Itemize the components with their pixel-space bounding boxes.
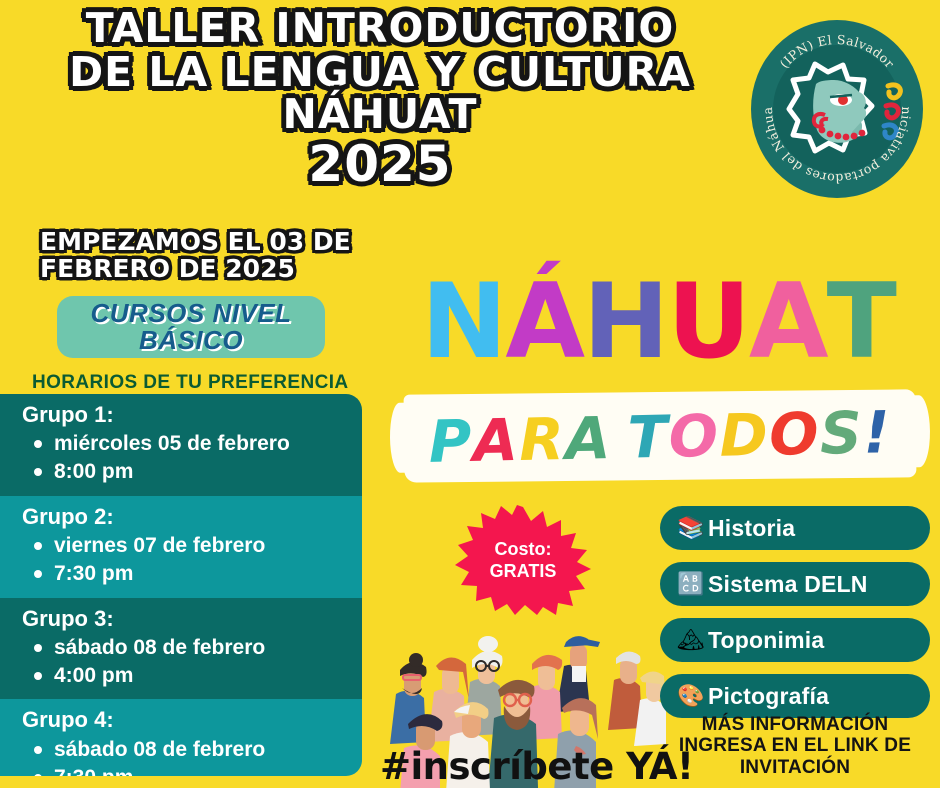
abc-blocks-icon: 🔠 — [674, 573, 708, 595]
subtitle-letter-9: O — [769, 405, 821, 464]
group-detail-item: 7:30 pm — [22, 560, 362, 588]
schedule-group-2: Grupo 2:viernes 07 de febrero7:30 pm — [0, 496, 362, 598]
topics-list: 📚Historia🔠Sistema DELN🏔Toponimia🎨Pictogr… — [660, 506, 930, 730]
more-info-line-2: INGRESA EN EL LINK DE — [650, 735, 940, 756]
group-detail-list: miércoles 05 de febrero8:00 pm — [22, 430, 362, 485]
hero-letter-5: A — [749, 274, 827, 372]
schedule-heading: HORARIOS DE TU PREFERENCIA — [32, 372, 349, 394]
level-line-2: BÁSICO — [139, 325, 243, 355]
poster-title: TALLER INTRODUCTORIO DE LA LENGUA Y CULT… — [0, 8, 760, 190]
hero-letter-4: U — [667, 274, 749, 372]
group-detail-item: 8:00 pm — [22, 458, 362, 486]
more-info-text: MÁS INFORMACIÓN INGRESA EN EL LINK DE IN… — [650, 714, 940, 778]
topic-pill-historia[interactable]: 📚Historia — [660, 506, 930, 550]
subtitle-letter-5 — [611, 409, 628, 467]
subtitle-letter-4: A — [565, 409, 613, 468]
level-line-1: CURSOS NIVEL — [90, 298, 291, 328]
group-detail-item: 4:00 pm — [22, 662, 362, 690]
subtitle-letter-8: D — [719, 406, 770, 465]
subtitle-letter-7: O — [668, 407, 720, 466]
schedule-group-3: Grupo 3:sábado 08 de febrero4:00 pm — [0, 598, 362, 700]
group-detail-item: 7:30 pm — [22, 764, 362, 776]
topic-pill-pictograf-a[interactable]: 🎨Pictografía — [660, 674, 930, 718]
topic-pill-toponimia[interactable]: 🏔Toponimia — [660, 618, 930, 662]
organization-logo: (IPN) El Salvador Iniciativa portadores … — [748, 20, 926, 198]
books-icon: 📚 — [674, 517, 708, 539]
title-year: 2025 — [0, 139, 760, 190]
start-date-text: EMPEZAMOS EL 03 DE FEBRERO DE 2025 — [40, 228, 370, 282]
group-detail-item: viernes 07 de febrero — [22, 532, 362, 560]
art-palette-icon: 🎨 — [674, 685, 708, 707]
subtitle-letter-2: A — [472, 411, 520, 470]
more-info-line-3: INVITACIÓN — [650, 757, 940, 778]
group-detail-list: viernes 07 de febrero7:30 pm — [22, 532, 362, 587]
schedule-groups-panel: Grupo 1:miércoles 05 de febrero8:00 pmGr… — [0, 394, 362, 776]
topic-label: Toponimia — [708, 627, 824, 654]
topic-pill-sistema-deln[interactable]: 🔠Sistema DELN — [660, 562, 930, 606]
hero-letter-1: N — [421, 274, 505, 372]
title-line-2: DE LA LENGUA Y CULTURA NÁHUAT — [0, 52, 760, 136]
course-level-badge: CURSOS NIVEL BÁSICO — [57, 296, 325, 358]
hero-letter-6: T — [827, 274, 895, 372]
subtitle-letter-3: R — [519, 410, 566, 469]
schedule-group-4: Grupo 4:sábado 08 de febrero7:30 pm — [0, 699, 362, 776]
topic-label: Sistema DELN — [708, 571, 868, 598]
group-title: Grupo 3: — [22, 606, 362, 632]
hero-letter-3: H — [583, 274, 667, 372]
cost-label: Costo: — [495, 538, 552, 561]
hero-subtitle-para-todos: PARA TODOS! — [403, 391, 917, 484]
schedule-group-1: Grupo 1:miércoles 05 de febrero8:00 pm — [0, 394, 362, 496]
group-title: Grupo 4: — [22, 707, 362, 733]
cost-value: GRATIS — [490, 560, 557, 583]
group-detail-list: sábado 08 de febrero7:30 pm — [22, 736, 362, 776]
group-title: Grupo 2: — [22, 504, 362, 530]
mountain-icon: 🏔 — [674, 629, 708, 651]
group-detail-item: sábado 08 de febrero — [22, 634, 362, 662]
topic-label: Pictografía — [708, 683, 829, 710]
group-detail-item: sábado 08 de febrero — [22, 736, 362, 764]
hero-word-nahuat: NÁHUAT — [398, 252, 918, 372]
subtitle-letter-10: S — [819, 404, 863, 463]
title-line-1: TALLER INTRODUCTORIO — [0, 8, 760, 50]
topic-label: Historia — [708, 515, 795, 542]
hashtag-cta: #inscríbete YÁ! — [380, 745, 693, 788]
subtitle-letter-11: ! — [863, 403, 892, 462]
group-title: Grupo 1: — [22, 402, 362, 428]
cost-badge: Costo: GRATIS — [455, 505, 591, 615]
subtitle-letter-6: T — [627, 408, 669, 467]
subtitle-letter-1: P — [428, 412, 473, 471]
hero-letter-2: Á — [505, 274, 583, 372]
poster-canvas: TALLER INTRODUCTORIO DE LA LENGUA Y CULT… — [0, 0, 940, 788]
more-info-line-1: MÁS INFORMACIÓN — [650, 714, 940, 735]
group-detail-item: miércoles 05 de febrero — [22, 430, 362, 458]
group-detail-list: sábado 08 de febrero4:00 pm — [22, 634, 362, 689]
